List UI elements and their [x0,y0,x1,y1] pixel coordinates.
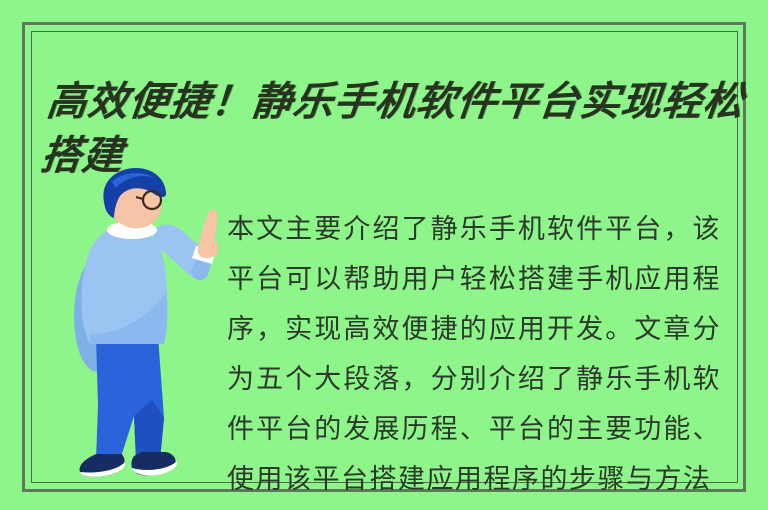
illustration-container [48,168,218,478]
man-pointing-illustration [48,168,218,478]
figure-hand [198,210,218,259]
page-title: 高效便捷！静乐手机软件平台实现轻松搭建 [38,75,749,183]
page-root: 高效便捷！静乐手机软件平台实现轻松搭建 [0,0,768,510]
article-body: 本文主要介绍了静乐手机软件平台，该平台可以帮助用户轻松搭建手机应用程序，实现高效… [227,205,721,505]
